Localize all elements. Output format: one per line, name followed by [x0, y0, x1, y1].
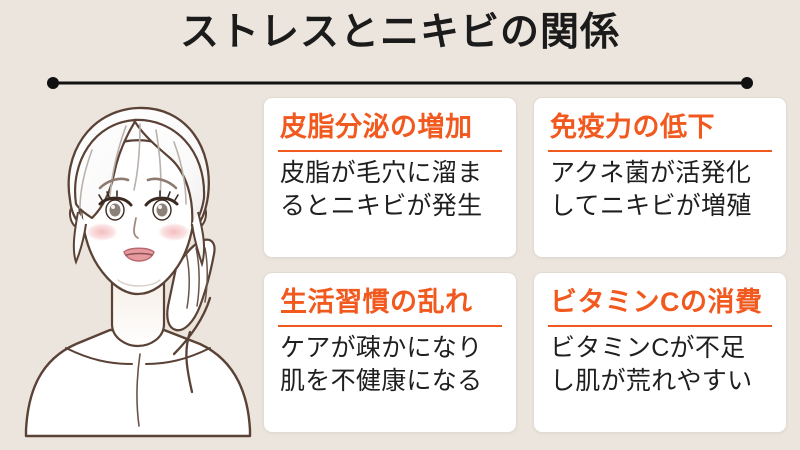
page-title-block: ストレスとニキビの関係 [0, 10, 800, 57]
card-heading: 免疫力の低下 [550, 112, 772, 144]
card-body: ビタミンCが不足 し肌が荒れやすい [550, 332, 772, 398]
card-body: ケアが疎かになり 肌を不健康になる [280, 332, 502, 398]
card-heading: ビタミンCの消費 [550, 287, 772, 319]
card-body-line: 皮脂が毛穴に溜ま [280, 157, 502, 190]
card-body: 皮脂が毛穴に溜ま るとニキビが発生 [280, 157, 502, 223]
card-body-line: るとニキビが発生 [280, 190, 502, 223]
card-body-line: ビタミンCが不足 [550, 332, 772, 365]
infographic-root: ストレスとニキビの関係 [0, 0, 800, 450]
card-body-line: ケアが疎かになり [280, 332, 502, 365]
info-card-immunity[interactable]: 免疫力の低下 アクネ菌が活発化 してニキビが増殖 [533, 97, 787, 258]
worried-woman-illustration [14, 92, 264, 450]
card-body-line: し肌が荒れやすい [550, 365, 772, 398]
info-card-lifestyle[interactable]: 生活習慣の乱れ ケアが疎かになり 肌を不健康になる [263, 272, 517, 433]
info-card-sebum[interactable]: 皮脂分泌の増加 皮脂が毛穴に溜ま るとニキビが発生 [263, 97, 517, 258]
page-title: ストレスとニキビの関係 [0, 10, 800, 57]
card-divider [278, 325, 502, 327]
card-divider [548, 150, 772, 152]
card-body-line: してニキビが増殖 [550, 190, 772, 223]
card-divider [278, 150, 502, 152]
card-body: アクネ菌が活発化 してニキビが増殖 [550, 157, 772, 223]
card-heading: 皮脂分泌の増加 [280, 112, 502, 144]
card-heading: 生活習慣の乱れ [280, 287, 502, 319]
card-body-line: 肌を不健康になる [280, 365, 502, 398]
title-divider-icon [47, 72, 753, 94]
info-card-vitamin-c[interactable]: ビタミンCの消費 ビタミンCが不足 し肌が荒れやすい [533, 272, 787, 433]
card-divider [548, 325, 772, 327]
card-body-line: アクネ菌が活発化 [550, 157, 772, 190]
